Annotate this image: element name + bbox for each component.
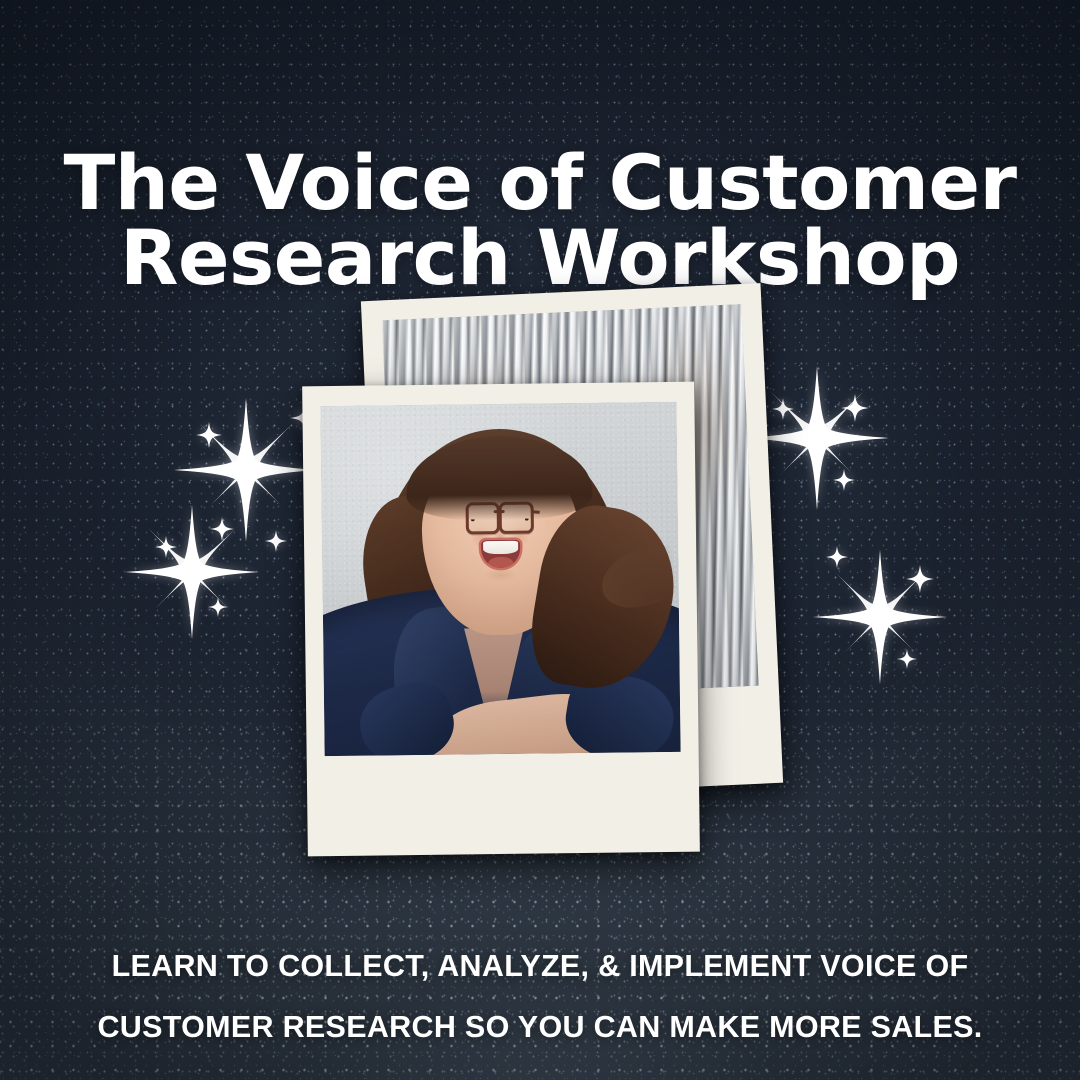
- page-subtitle: LEARN TO COLLECT, ANALYZE, & IMPLEMENT V…: [0, 936, 1080, 1059]
- polaroid-front: [302, 382, 700, 857]
- teeth: [483, 541, 518, 554]
- page-title: The Voice of Customer Research Workshop: [0, 145, 1080, 295]
- photo-portrait: [320, 402, 680, 756]
- poster-canvas: The Voice of Customer Research Workshop: [0, 0, 1080, 1080]
- tongue: [488, 557, 513, 568]
- smiling-mouth: [481, 540, 520, 568]
- chin: [485, 567, 516, 582]
- portrait-illustration: [320, 402, 680, 756]
